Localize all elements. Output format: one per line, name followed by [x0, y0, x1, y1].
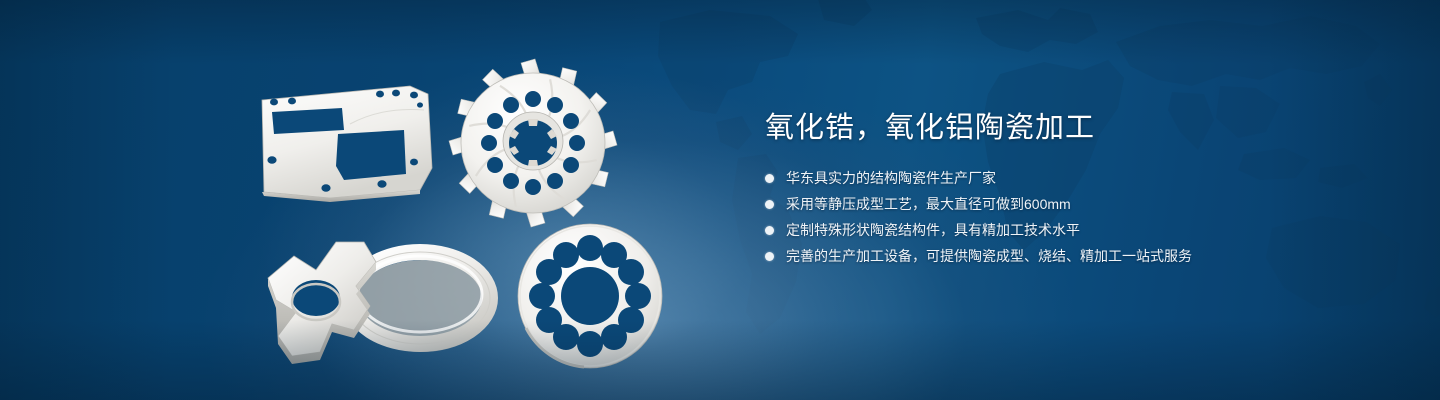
banner-copy: 氧化锆，氧化铝陶瓷加工 华东具实力的结构陶瓷件生产厂家 采用等静压成型工艺，最大… [765, 108, 1385, 270]
feature-list: 华东具实力的结构陶瓷件生产厂家 采用等静压成型工艺，最大直径可做到600mm 定… [765, 166, 1385, 268]
bullet-dot-icon [765, 226, 774, 235]
promo-banner: 氧化锆，氧化铝陶瓷加工 华东具实力的结构陶瓷件生产厂家 采用等静压成型工艺，最大… [0, 0, 1440, 400]
bullet-dot-icon [765, 200, 774, 209]
list-item: 完善的生产加工设备，可提供陶瓷成型、烧结、精加工一站式服务 [765, 244, 1385, 268]
feature-text: 定制特殊形状陶瓷结构件，具有精加工技术水平 [786, 218, 1080, 242]
feature-text: 完善的生产加工设备，可提供陶瓷成型、烧结、精加工一站式服务 [786, 244, 1192, 268]
page-title: 氧化锆，氧化铝陶瓷加工 [765, 108, 1385, 148]
bullet-dot-icon [765, 252, 774, 261]
list-item: 华东具实力的结构陶瓷件生产厂家 [765, 166, 1385, 190]
list-item: 采用等静压成型工艺，最大直径可做到600mm [765, 192, 1385, 216]
feature-text: 华东具实力的结构陶瓷件生产厂家 [786, 166, 996, 190]
feature-text: 采用等静压成型工艺，最大直径可做到600mm [786, 192, 1071, 216]
list-item: 定制特殊形状陶瓷结构件，具有精加工技术水平 [765, 218, 1385, 242]
bullet-dot-icon [765, 174, 774, 183]
